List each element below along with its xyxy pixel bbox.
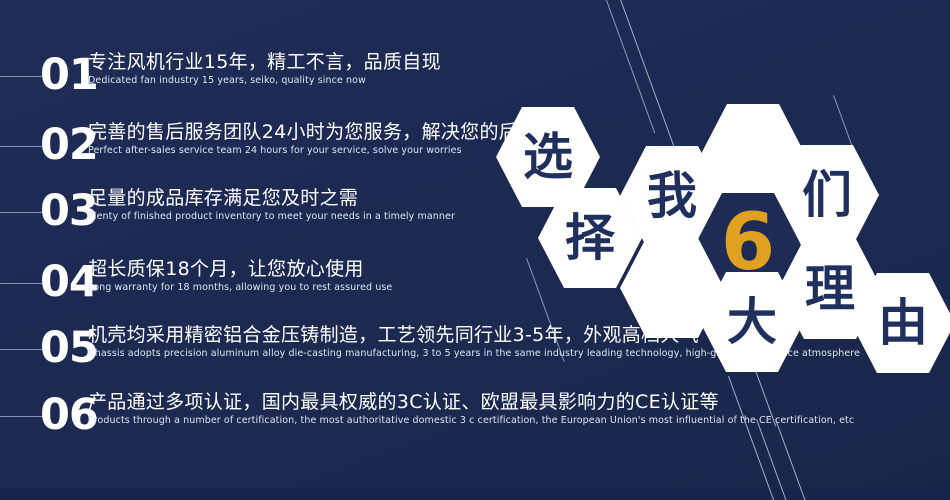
banner-root: 01 专注风机行业15年，精工不言，品质自现 Dedicated fan ind…: [0, 0, 950, 500]
hex-glyph: 理: [805, 264, 855, 314]
hex-glyph-number-six: 6: [721, 204, 775, 282]
hex-glyph: 选: [523, 132, 573, 182]
hex-glyph: 由: [878, 298, 928, 348]
hexagon-cluster: 选 择 我 们 6 大 理: [0, 0, 950, 500]
hex-glyph: 我: [647, 171, 697, 221]
hex-glyph: 们: [802, 170, 852, 220]
hex-glyph: 大: [727, 297, 777, 347]
hex-glyph: 择: [565, 213, 615, 263]
